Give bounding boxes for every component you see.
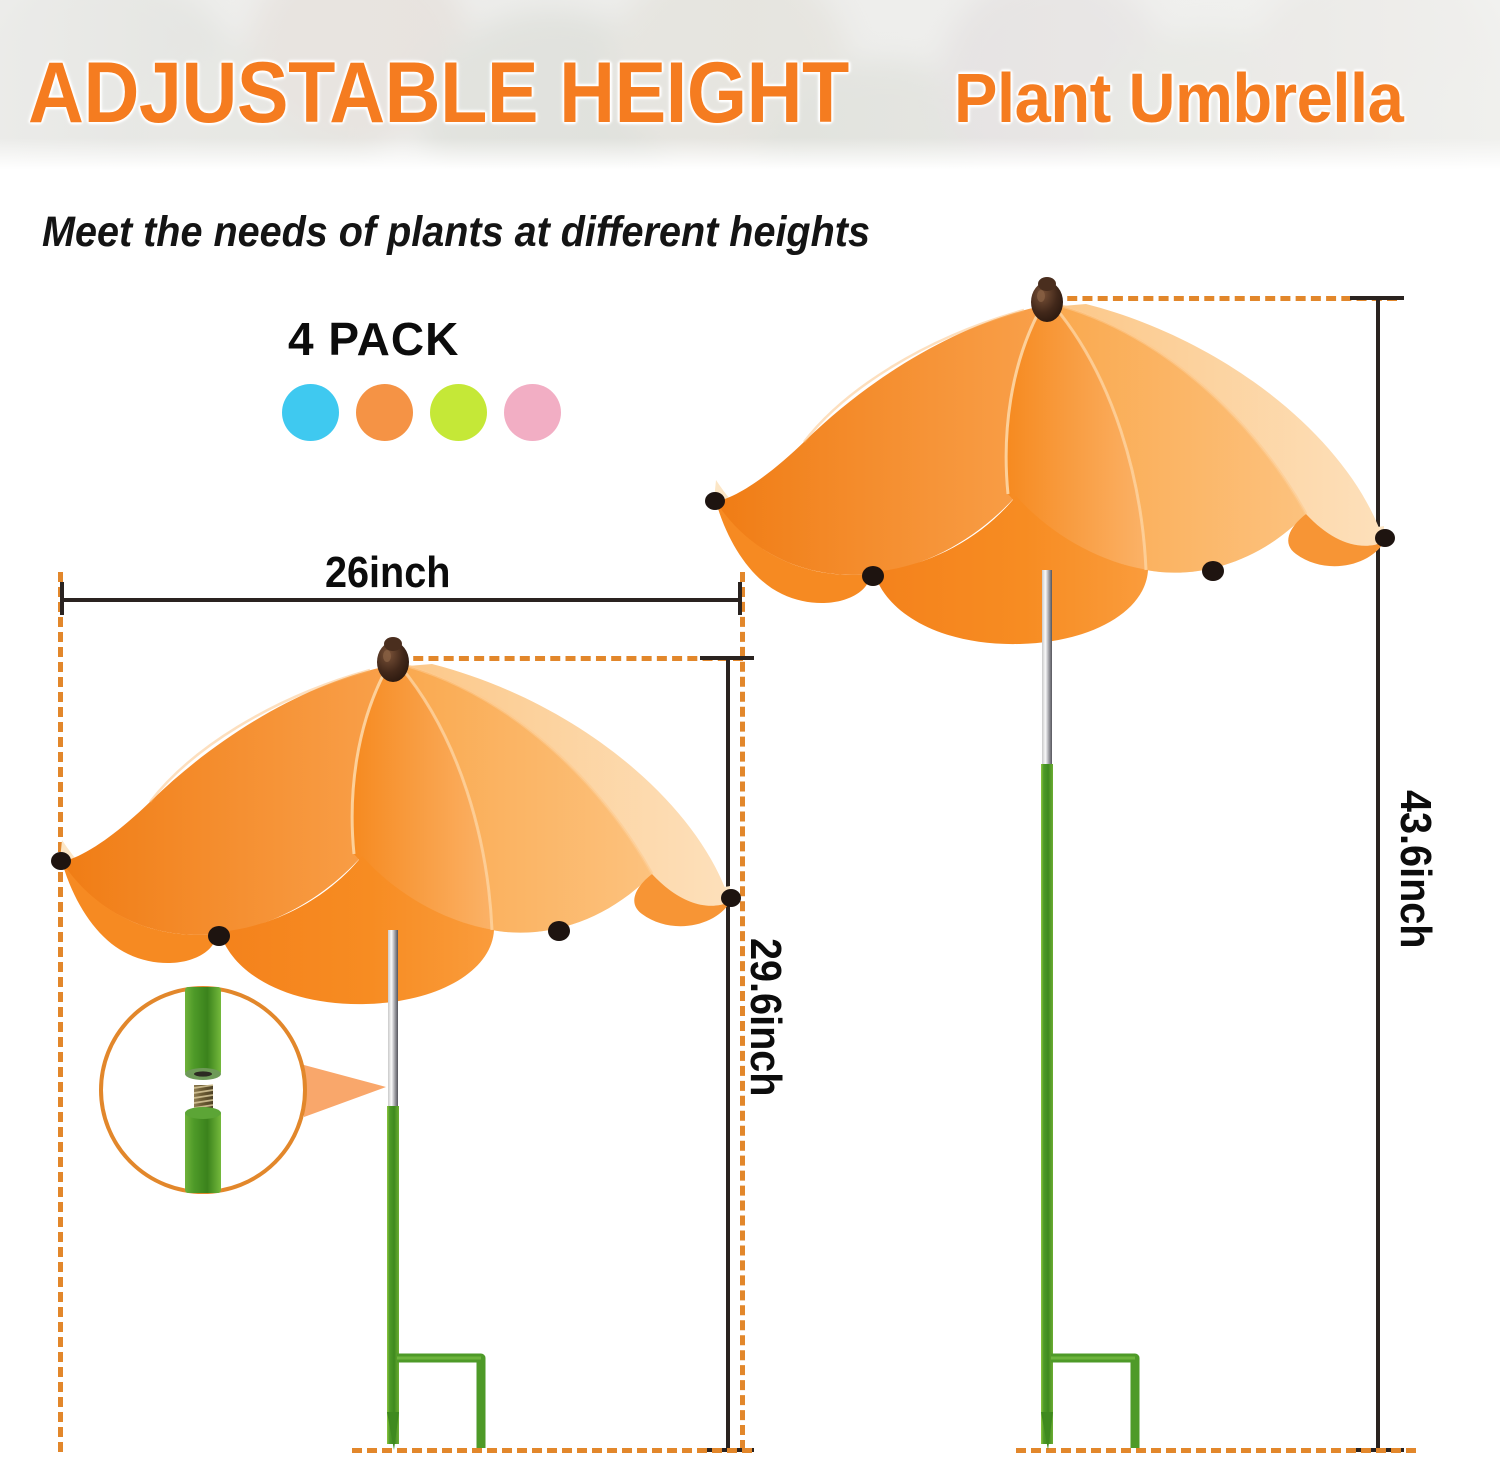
upper-pole-socket xyxy=(185,987,221,1075)
plant-umbrella-tall xyxy=(694,280,1414,1452)
header-banner: ADJUSTABLE HEIGHT Plant Umbrella xyxy=(0,0,1500,172)
color-swatch-sky-blue xyxy=(282,384,339,441)
pack-block: 4 PACK xyxy=(282,312,561,441)
title-main: ADJUSTABLE HEIGHT xyxy=(28,50,849,136)
product-infographic: ADJUSTABLE HEIGHT Plant Umbrella Meet th… xyxy=(0,0,1500,1477)
dimension-label-width: 26inch xyxy=(325,548,450,598)
pack-count-label: 4 PACK xyxy=(288,312,561,366)
lower-pole xyxy=(185,1111,221,1193)
color-swatch-orange xyxy=(356,384,413,441)
measure-cap-left xyxy=(60,582,64,615)
subtitle: Meet the needs of plants at different he… xyxy=(42,208,870,257)
callout-pointer xyxy=(304,1065,386,1117)
color-swatch-list xyxy=(282,384,561,441)
pole-green xyxy=(1041,764,1053,1444)
measure-line-width xyxy=(60,598,742,602)
header-bottom-fade xyxy=(0,138,1500,172)
color-swatch-lime xyxy=(430,384,487,441)
screw-connection-detail xyxy=(96,985,396,1210)
color-swatch-pink xyxy=(504,384,561,441)
pole-metal xyxy=(1042,570,1052,766)
title-sub: Plant Umbrella xyxy=(954,63,1403,133)
page-title: ADJUSTABLE HEIGHT Plant Umbrella xyxy=(28,50,1437,136)
